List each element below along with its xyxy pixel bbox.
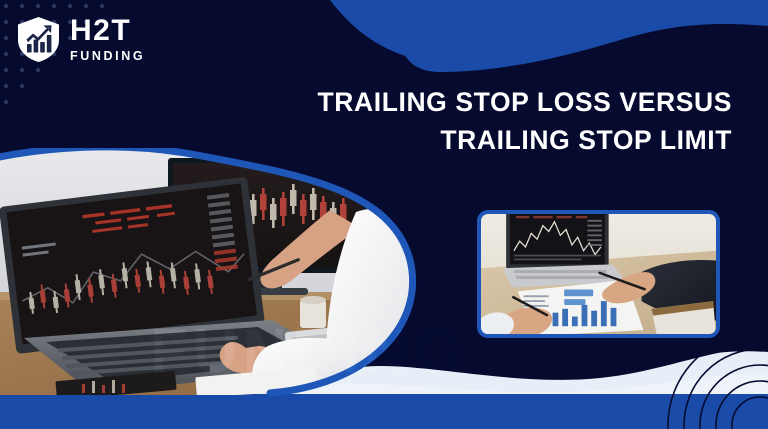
analysts-reviewing-charts-photo — [477, 210, 720, 338]
analysts-scene — [481, 214, 716, 334]
brand-name-primary: H2T — [70, 16, 145, 46]
page-title-line-1: TRAILING STOP LOSS VERSUS — [302, 84, 732, 122]
page-title-line-2: TRAILING STOP LIMIT — [302, 122, 732, 160]
brand-name-secondary: FUNDING — [70, 50, 145, 63]
brand-logo[interactable]: H2T FUNDING — [16, 16, 145, 63]
page-title: TRAILING STOP LOSS VERSUS TRAILING STOP … — [302, 84, 732, 159]
shield-bar-chart-arrow-icon — [16, 16, 61, 63]
brand-logo-text: H2T FUNDING — [70, 16, 145, 63]
hero-banner-canvas: H2T FUNDING TRAILING STOP LOSS VERSUS TR… — [0, 0, 768, 429]
concentric-rings-decoration — [608, 329, 768, 429]
